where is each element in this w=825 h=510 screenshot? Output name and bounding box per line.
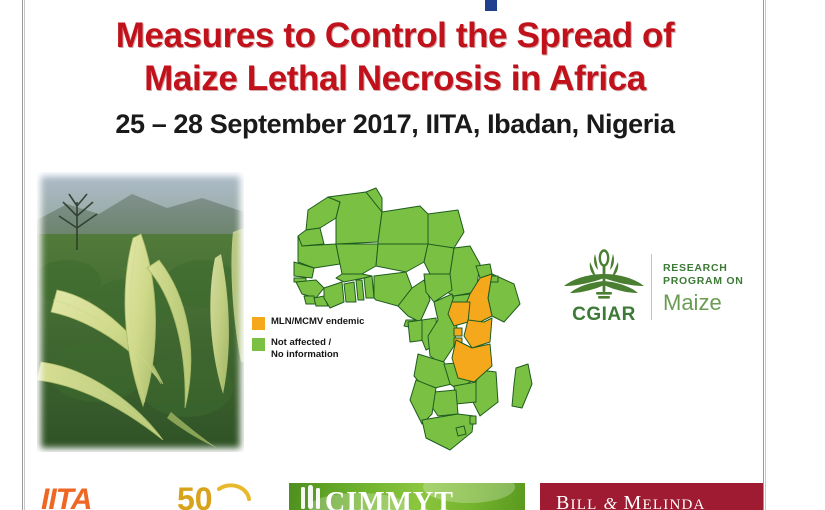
cgiar-program-text: RESEARCH PROGRAM ON Maize [663, 260, 744, 315]
svg-text:IITA: IITA [41, 483, 91, 510]
iita-logo-glyph: IITA [39, 483, 157, 510]
poster-slide: Measures to Control the Spread of Maize … [0, 0, 825, 510]
svg-text:CIMMYT: CIMMYT [325, 487, 454, 510]
cgiar-maize-logo: CGIAR RESEARCH PROGRAM ON Maize [562, 247, 762, 327]
africa-mln-map [258, 170, 553, 460]
iita-50-logo: 50 [175, 483, 265, 510]
iita-logo: IITA [39, 483, 157, 510]
slide-frame-right-line-2 [765, 0, 766, 510]
poster-title-line-1: Measures to Control the Spread of [30, 14, 760, 57]
legend-swatch-unaffected [252, 338, 265, 351]
legend-label-endemic: MLN/MCMV endemic [271, 316, 364, 328]
legend-swatch-endemic [252, 317, 265, 330]
poster-title-line-2: Maize Lethal Necrosis in Africa [30, 57, 760, 100]
cgiar-wordmark: CGIAR [562, 304, 646, 326]
maize-photo-illustration [37, 172, 244, 452]
gates-foundation-glyph: BILL & MELINDA [540, 483, 763, 510]
iita-50-glyph: 50 [175, 483, 265, 510]
cgiar-wheat-icon: CGIAR [562, 248, 646, 326]
cropped-blue-text-fragment [485, 0, 497, 11]
poster-date-venue: 25 – 28 September 2017, IITA, Ibadan, Ni… [30, 106, 760, 142]
slide-frame-left-line-2 [24, 0, 25, 510]
legend-label-unaffected: Not affected / No information [271, 337, 339, 360]
partner-logo-strip: IITA 50 CIMMYT [25, 483, 763, 510]
svg-text:BILL & MELINDA: BILL & MELINDA [556, 492, 706, 510]
africa-map-svg [258, 170, 553, 460]
gates-foundation-logo: BILL & MELINDA [540, 483, 763, 510]
cgiar-kicker: RESEARCH PROGRAM ON [663, 262, 744, 288]
cgiar-divider [651, 254, 652, 320]
map-legend: MLN/MCMV endemic Not affected / No infor… [252, 316, 392, 367]
maize-field-photo [37, 172, 244, 452]
cgiar-program-name: Maize [663, 290, 744, 315]
legend-item-unaffected: Not affected / No information [252, 337, 392, 360]
slide-frame-left-line [22, 0, 23, 510]
slide-frame-right-line [763, 0, 764, 510]
cimmyt-logo: CIMMYT [289, 483, 525, 510]
legend-item-endemic: MLN/MCMV endemic [252, 316, 392, 330]
svg-text:50: 50 [177, 483, 213, 510]
cgiar-wheat-glyph [562, 248, 646, 306]
poster-header: Measures to Control the Spread of Maize … [30, 14, 760, 142]
cimmyt-logo-glyph: CIMMYT [289, 483, 525, 510]
